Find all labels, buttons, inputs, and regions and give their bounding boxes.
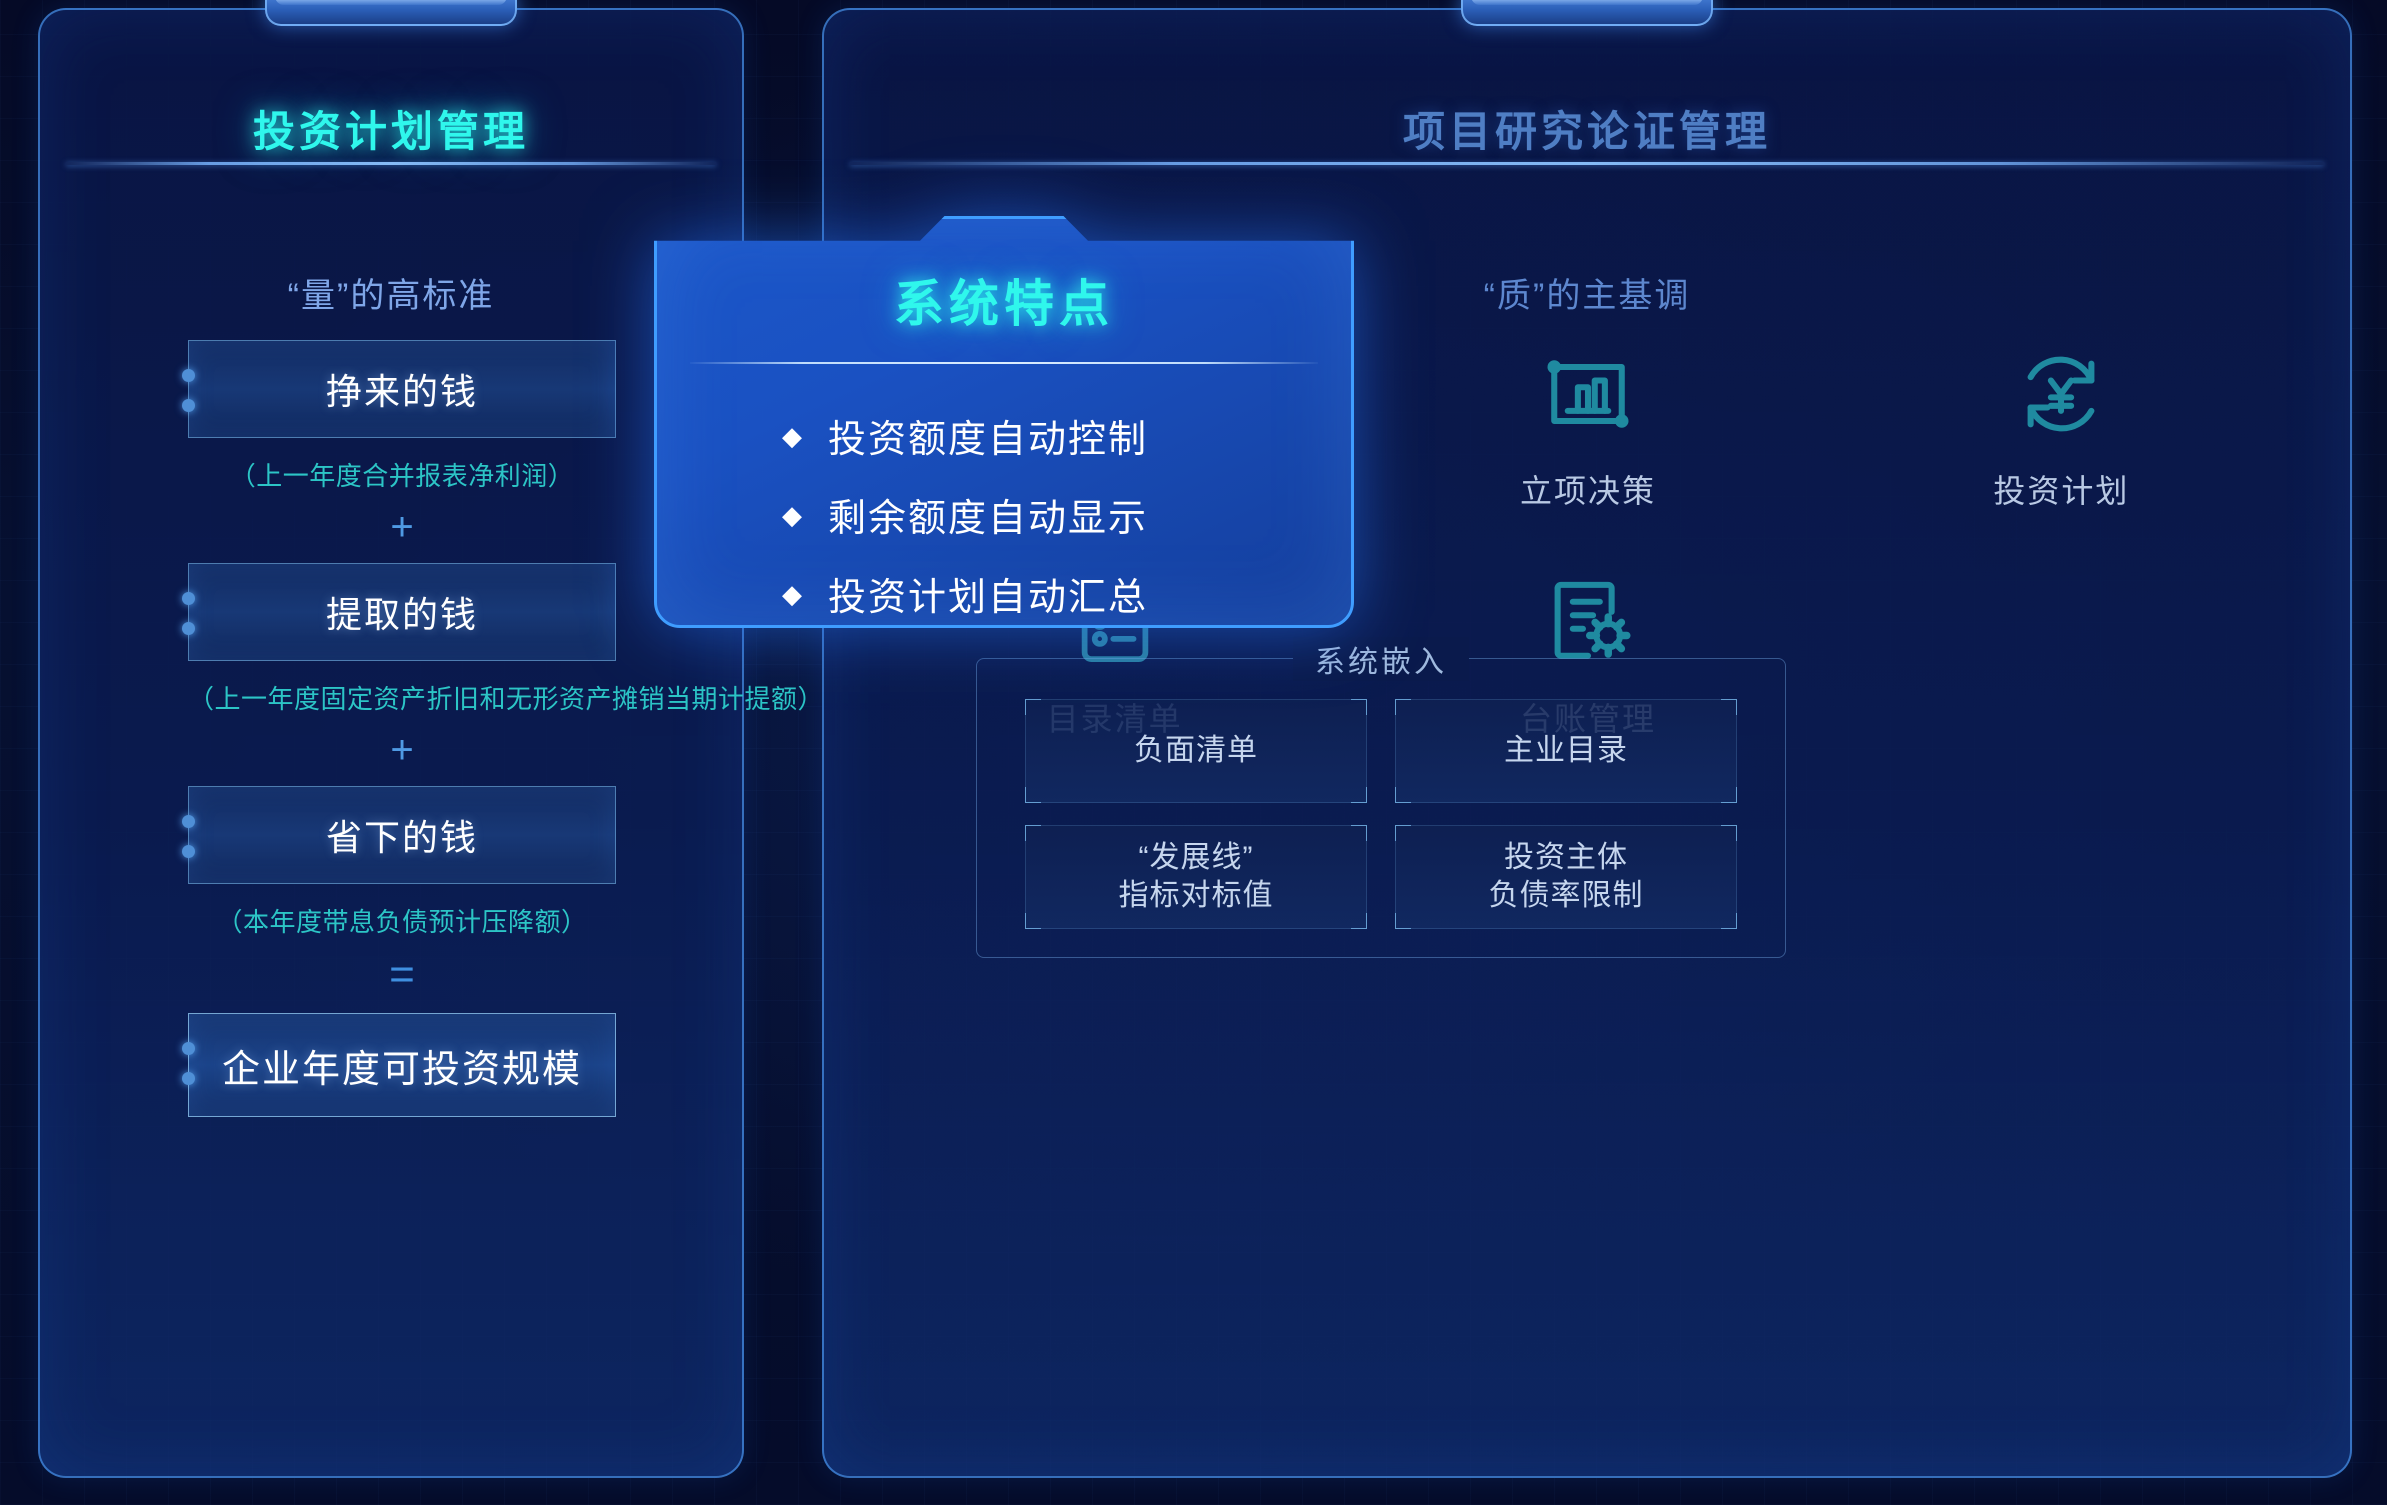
- panel-left-top-tab: [265, 0, 517, 26]
- panel-right-top-tab: [1461, 0, 1713, 26]
- connector-dot: [182, 592, 195, 605]
- formula-box-label: 提取的钱: [326, 586, 478, 638]
- formula-box-result[interactable]: 企业年度可投资规模: [188, 1013, 616, 1117]
- embed-box-negative-list[interactable]: 负面清单: [1025, 699, 1367, 803]
- diamond-bullet-icon: ◆: [782, 502, 802, 528]
- formula-note-saved: （本年度带息负债预计压降额）: [188, 902, 616, 939]
- formula-box-earned[interactable]: 挣来的钱: [188, 340, 616, 438]
- diamond-bullet-icon: ◆: [782, 581, 802, 607]
- formula-box-label: 省下的钱: [326, 809, 478, 861]
- popup-feature-label: 投资额度自动控制: [828, 408, 1148, 463]
- formula-note-extracted: （上一年度固定资产折旧和无形资产摊销当期计提额）: [188, 679, 616, 716]
- grid-spacer: [1825, 568, 2298, 740]
- module-label: 立项决策: [1520, 466, 1656, 512]
- formula-box-extracted[interactable]: 提取的钱: [188, 563, 616, 661]
- popup-feature-list: ◆ 投资额度自动控制 ◆ 剩余额度自动显示 ◆ 投资计划自动汇总: [782, 408, 1354, 621]
- popup-feature-item: ◆ 剩余额度自动显示: [782, 487, 1354, 542]
- panel-left-divider: [66, 162, 716, 165]
- formula-box-saved[interactable]: 省下的钱: [188, 786, 616, 884]
- embed-box-development-line[interactable]: “发展线” 指标对标值: [1025, 825, 1367, 929]
- panel-left-subtitle: “量”的高标准: [40, 268, 742, 317]
- module-project-decision[interactable]: 立项决策: [1351, 340, 1824, 512]
- yuan-cycle-icon: [2007, 340, 2115, 448]
- connector-dot: [182, 1042, 195, 1055]
- panel-right-title: 项目研究论证管理: [824, 98, 2350, 159]
- popup-feature-label: 投资计划自动汇总: [828, 566, 1148, 621]
- embed-box-label: “发展线” 指标对标值: [1119, 839, 1274, 916]
- module-label: 投资计划: [1993, 466, 2129, 512]
- formula-note-earned: （上一年度合并报表净利润）: [188, 456, 616, 493]
- module-investment-plan[interactable]: 投资计划: [1825, 340, 2298, 512]
- slide-canvas: 投资计划管理 “量”的高标准 挣来的钱 （上一年度合并报表净利润） + 提取的钱…: [0, 0, 2387, 1505]
- investment-formula: 挣来的钱 （上一年度合并报表净利润） + 提取的钱 （上一年度固定资产折旧和无形…: [188, 340, 616, 1117]
- popup-title: 系统特点: [654, 264, 1354, 336]
- connector-dot: [182, 399, 195, 412]
- diamond-bullet-icon: ◆: [782, 423, 802, 449]
- popup-title-divider: [690, 362, 1318, 364]
- system-features-popup[interactable]: 系统特点 ◆ 投资额度自动控制 ◆ 剩余额度自动显示 ◆ 投资计划自动汇总: [654, 216, 1354, 628]
- system-embed-group: 系统嵌入 负面清单 主业目录 “发展线” 指标对标值 投资主体 负债率限制: [976, 658, 1786, 958]
- connector-dot: [182, 845, 195, 858]
- embed-box-debt-ratio-limit[interactable]: 投资主体 负债率限制: [1395, 825, 1737, 929]
- system-embed-legend: 系统嵌入: [1293, 637, 1469, 681]
- panel-investment-plan: 投资计划管理 “量”的高标准 挣来的钱 （上一年度合并报表净利润） + 提取的钱…: [38, 8, 744, 1478]
- popup-feature-label: 剩余额度自动显示: [828, 487, 1148, 542]
- connector-dot: [182, 622, 195, 635]
- embed-box-label: 负面清单: [1134, 732, 1258, 770]
- panel-left-title: 投资计划管理: [40, 98, 742, 159]
- connector-dot: [182, 369, 195, 382]
- embed-box-label: 投资主体 负债率限制: [1489, 839, 1644, 916]
- embed-box-main-business-catalog[interactable]: 主业目录: [1395, 699, 1737, 803]
- connector-dot: [182, 1072, 195, 1085]
- bar-chart-icon: [1534, 340, 1642, 448]
- formula-box-label: 挣来的钱: [326, 363, 478, 415]
- panel-right-divider: [850, 162, 2324, 165]
- connector-dot: [182, 815, 195, 828]
- embed-box-label: 主业目录: [1504, 732, 1628, 770]
- formula-operator-plus-1: +: [188, 507, 616, 547]
- formula-operator-equals: =: [188, 953, 616, 997]
- formula-result-label: 企业年度可投资规模: [222, 1038, 582, 1093]
- popup-feature-item: ◆ 投资计划自动汇总: [782, 566, 1354, 621]
- popup-feature-item: ◆ 投资额度自动控制: [782, 408, 1354, 463]
- formula-operator-plus-2: +: [188, 730, 616, 770]
